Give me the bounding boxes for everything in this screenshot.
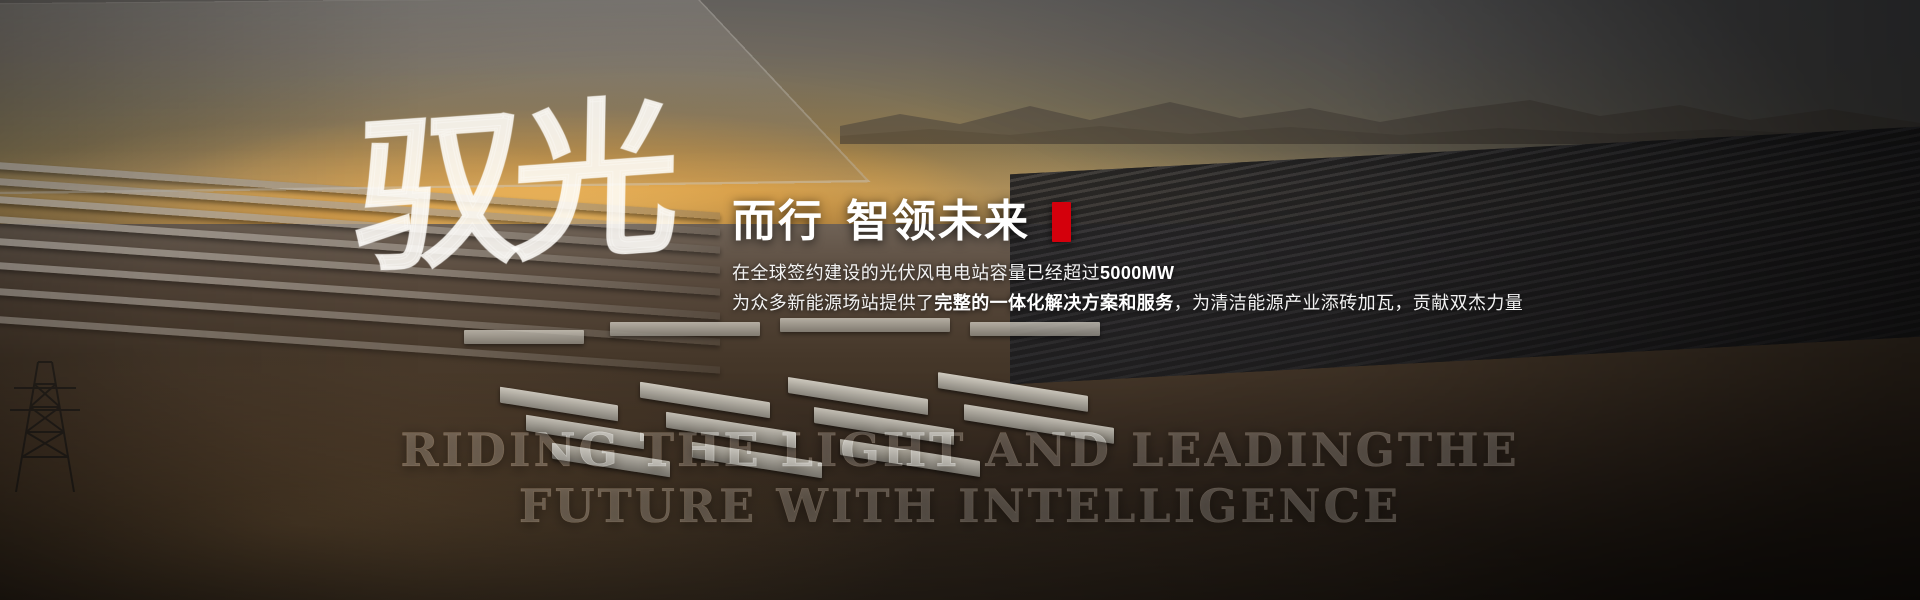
accent-square (1052, 202, 1071, 242)
transmission-tower-icon (8, 352, 82, 492)
subtitle-line-1: 在全球签约建设的光伏风电电站容量已经超过5000MW (732, 260, 1523, 288)
subtitle-line1-text: 在全球签约建设的光伏风电电站容量已经超过 (732, 263, 1100, 283)
headline: 而行 智领未来 (732, 200, 1523, 244)
hero-copy: 而行 智领未来 在全球签约建设的光伏风电电站容量已经超过5000MW 为众多新能… (732, 200, 1523, 318)
headline-part2: 智领未来 (846, 200, 1030, 244)
subtitle-line2-highlight: 完整的一体化解决方案和服务 (934, 293, 1173, 313)
subtitle-line1-capacity: 5000MW (1100, 263, 1174, 283)
calligraphy-logo: 驭光 (350, 46, 673, 299)
battery-container-row (440, 300, 1130, 520)
subtitle-line2-suffix: ，为清洁能源产业添砖加瓦，贡献双杰力量 (1174, 293, 1524, 313)
subtitle-line2-prefix: 为众多新能源场站提供了 (732, 293, 934, 313)
headline-part1: 而行 (732, 200, 824, 244)
hero-banner: RIDING THE LIGHT AND LEADINGTHE FUTURE W… (0, 0, 1920, 600)
subtitle-line-2: 为众多新能源场站提供了完整的一体化解决方案和服务，为清洁能源产业添砖加瓦，贡献双… (732, 290, 1523, 318)
